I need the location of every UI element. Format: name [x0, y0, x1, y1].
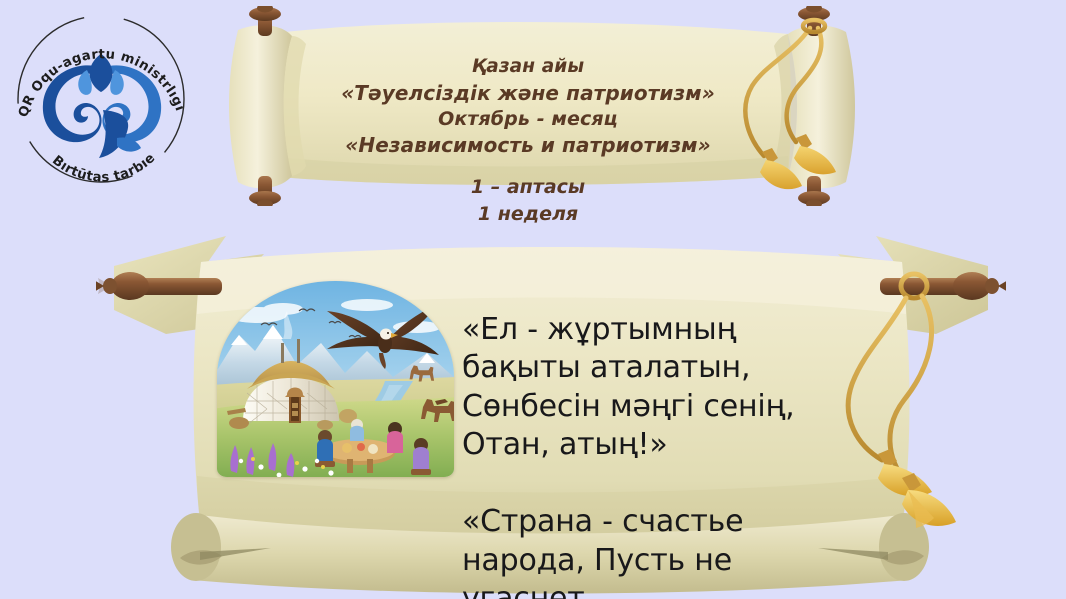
quote-kazakh: «Ел - жұртымның бақыты аталатын, Сөнбесі…: [462, 311, 822, 465]
top-scroll-text: Қазан айы «Тәуелсіздік және патриотизм» …: [268, 54, 788, 158]
ministry-logo: QR Oqu-agartu ministrlıgı Bırtūtas tarbı…: [4, 4, 200, 194]
poster-canvas: QR Oqu-agartu ministrlıgı Bırtūtas tarbı…: [0, 0, 1066, 599]
title-line-4: «Независимость и патриотизм»: [268, 132, 788, 158]
week-line-kz: 1 – аптасы: [268, 174, 788, 201]
yurt-steppe-illustration: [217, 281, 454, 477]
bottom-scroll-roll-cap-left: [171, 513, 221, 581]
title-line-1: Қазан айы: [268, 54, 788, 80]
title-line-3: Октябрь - месяц: [268, 106, 788, 132]
title-line-2: «Тәуелсіздік және патриотизм»: [268, 80, 788, 106]
poem-quote: «Ел - жұртымның бақыты аталатын, Сөнбесі…: [462, 272, 822, 599]
quote-russian: «Страна - счастье народа, Пусть не угасн…: [462, 503, 822, 599]
